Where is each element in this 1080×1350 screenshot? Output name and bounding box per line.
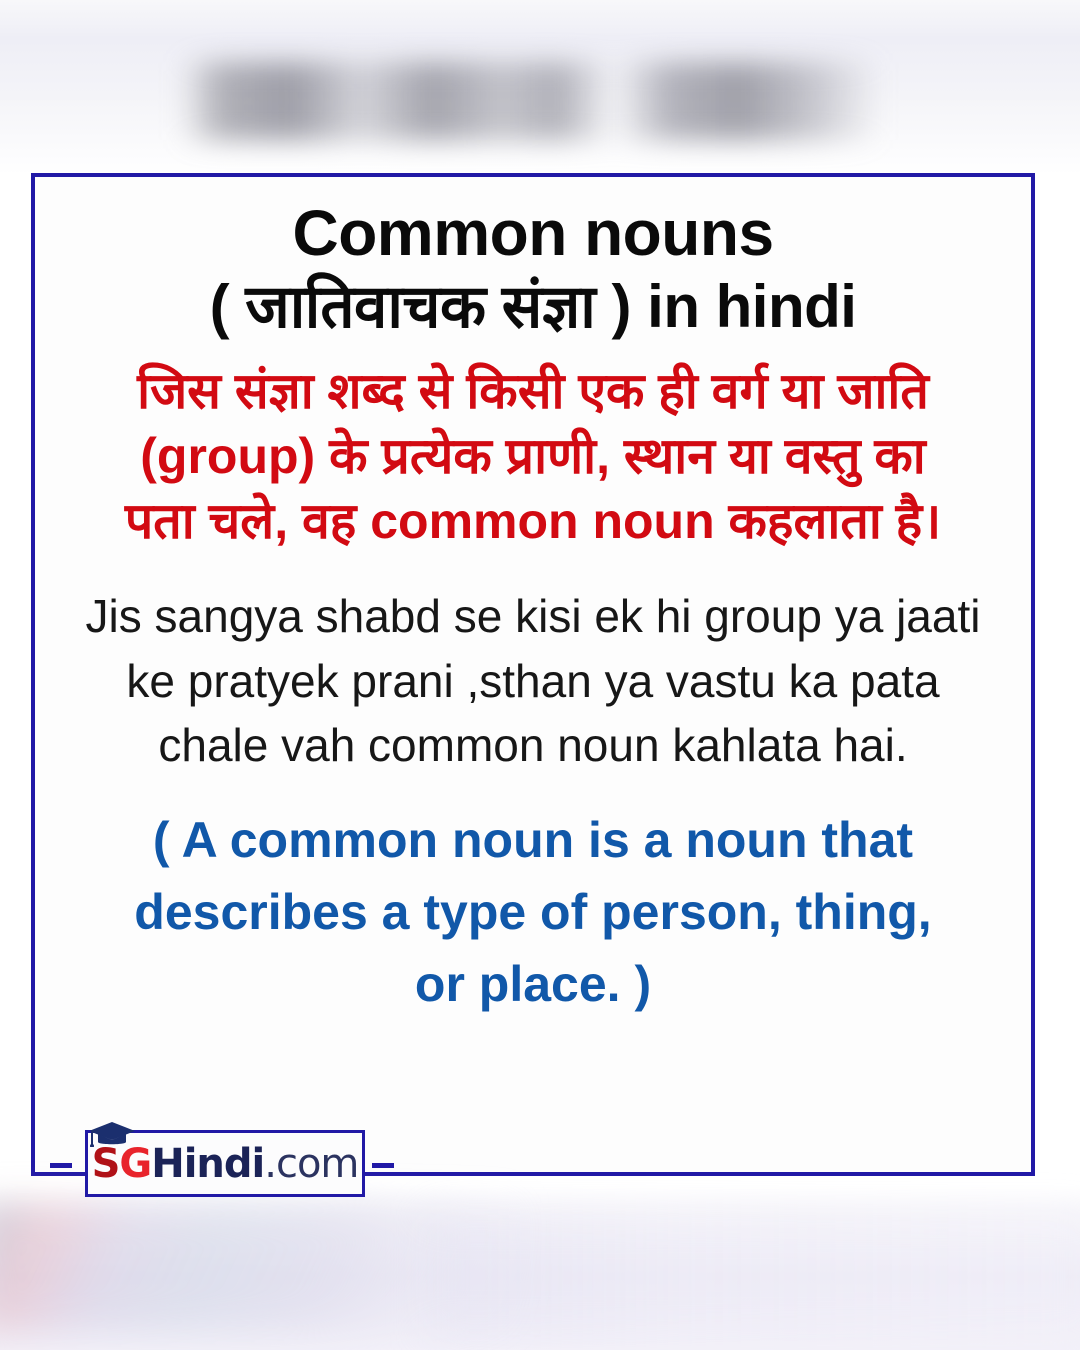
- transliteration-text: Jis sangya shabd se kisi ek hi group ya …: [35, 584, 1031, 777]
- logo-letter-g: G: [119, 1144, 151, 1184]
- title-line-english: Common nouns: [35, 201, 1031, 266]
- transliteration-line-2: ke pratyek prani ,sthan ya vastu ka pata: [65, 649, 1001, 713]
- content-card: Common nouns ( जातिवाचक संज्ञा ) in hind…: [31, 173, 1035, 1176]
- english-definition-line-3: or place. ): [51, 948, 1015, 1020]
- transliteration-line-1: Jis sangya shabd se kisi ek hi group ya …: [65, 584, 1001, 648]
- logo-text-hindi: Hindi: [151, 1144, 264, 1184]
- top-blurred-band: [0, 0, 1080, 175]
- hindi-definition-line-2: (group) के प्रत्येक प्राणी, स्थान या वस्…: [49, 424, 1017, 489]
- site-logo[interactable]: SGHindi.com: [85, 1130, 365, 1197]
- hindi-definition-line-1: जिस संज्ञा शब्द से किसी एक ही वर्ग या जा…: [49, 359, 1017, 424]
- hindi-definition-line-3: पता चले, वह common noun कहलाता है।: [49, 489, 1017, 554]
- blurred-smear-right: [430, 1215, 1080, 1335]
- page-title: Common nouns ( जातिवाचक संज्ञा ) in hind…: [35, 177, 1031, 337]
- blurred-smear-left: [0, 1203, 520, 1333]
- logo-text-dotcom: .com: [264, 1144, 358, 1184]
- logo-rule-left: [50, 1163, 72, 1168]
- english-definition-line-2: describes a type of person, thing,: [51, 876, 1015, 948]
- graduation-cap-icon: [88, 1121, 136, 1147]
- blurred-text-smear: [180, 62, 880, 140]
- transliteration-line-3: chale vah common noun kahlata hai.: [65, 713, 1001, 777]
- english-definition-text: ( A common noun is a noun that describes…: [35, 804, 1031, 1020]
- bottom-blurred-band: [0, 1185, 1080, 1350]
- logo-letter-s: S: [92, 1144, 120, 1184]
- logo-rule-right: [372, 1163, 394, 1168]
- english-definition-line-1: ( A common noun is a noun that: [51, 804, 1015, 876]
- title-line-hindi: ( जातिवाचक संज्ञा ) in hindi: [35, 276, 1031, 337]
- hindi-definition-text: जिस संज्ञा शब्द से किसी एक ही वर्ग या जा…: [35, 359, 1031, 554]
